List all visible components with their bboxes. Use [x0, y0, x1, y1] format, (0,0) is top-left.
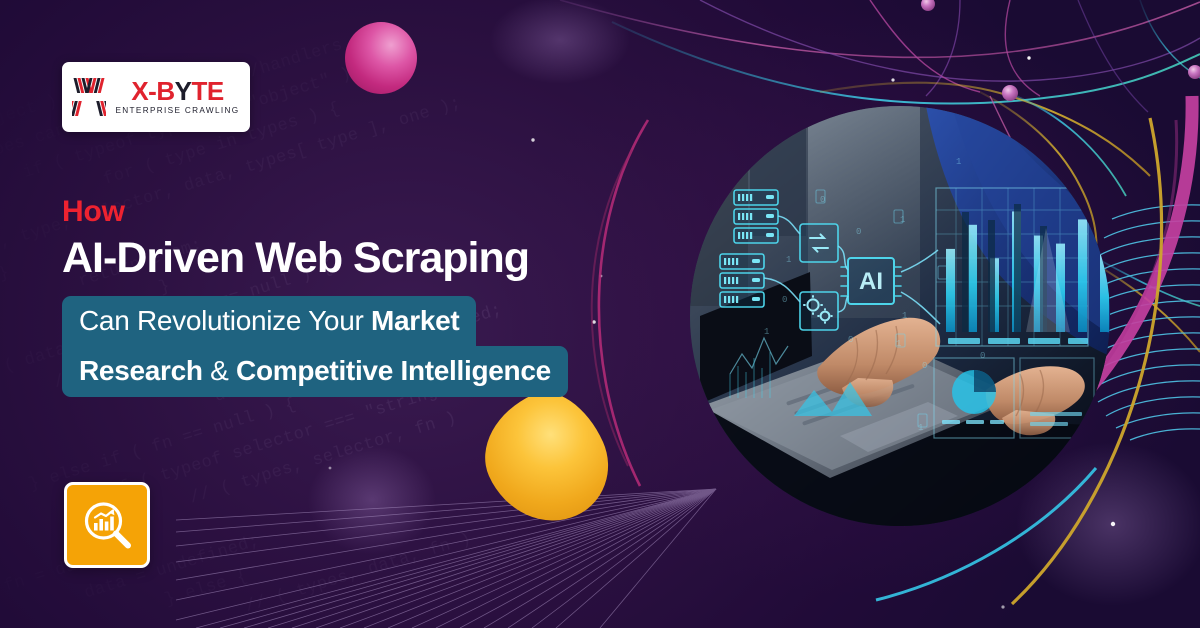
- svg-text:0: 0: [848, 335, 853, 345]
- hero-circle: AI: [646, 62, 1154, 570]
- subtitle-line-2-bold-a: Research: [79, 355, 203, 386]
- logo-word-part-2: Y: [175, 76, 192, 106]
- hero-illustration: AI: [690, 106, 1110, 526]
- subtitle-line-2-amp: &: [203, 355, 236, 386]
- svg-text:1: 1: [764, 327, 769, 337]
- subtitle-line-1-light: Can Revolutionize Your: [79, 305, 371, 336]
- logo-word-part-1: X-B: [131, 76, 174, 106]
- logo-text-block: X-BYTE ENTERPRISE CRAWLING: [115, 78, 239, 115]
- logo-tagline: ENTERPRISE CRAWLING: [115, 107, 239, 115]
- search-analytics-badge[interactable]: [64, 482, 150, 568]
- svg-text:0: 0: [922, 361, 927, 371]
- x-byte-mark-icon: [72, 76, 106, 118]
- ai-chip-label: AI: [859, 268, 883, 295]
- svg-text:1: 1: [956, 157, 961, 167]
- gold-blob-decoration: [466, 377, 626, 542]
- logo-word-part-3: TE: [191, 76, 223, 106]
- hero-photo: AI: [690, 106, 1110, 526]
- svg-text:0: 0: [980, 351, 985, 361]
- subtitle-line-2: Research & Competitive Intelligence: [62, 346, 568, 397]
- page-title: AI-Driven Web Scraping: [62, 234, 682, 282]
- subtitle-line-1-bold: Market: [371, 305, 459, 336]
- svg-text:0: 0: [856, 227, 861, 237]
- headline-kicker: How: [62, 196, 682, 228]
- logo-wordmark: X-BYTE: [131, 78, 223, 104]
- marketing-banner: if ( types-Object ) { // types can be a …: [0, 0, 1200, 628]
- brand-logo[interactable]: X-BYTE ENTERPRISE CRAWLING: [62, 62, 250, 132]
- subtitle-line-1: Can Revolutionize Your Market: [62, 296, 476, 347]
- svg-text:0: 0: [782, 295, 787, 305]
- svg-text:1: 1: [918, 423, 923, 433]
- subtitle-banner: Can Revolutionize Your Market Research &…: [62, 296, 682, 397]
- subtitle-line-2-bold-b: Competitive Intelligence: [236, 355, 551, 386]
- svg-text:1: 1: [902, 311, 907, 321]
- headline-block: How AI-Driven Web Scraping Can Revolutio…: [62, 196, 682, 397]
- pink-sphere-decoration: [345, 22, 417, 94]
- search-analytics-icon: [79, 497, 135, 553]
- svg-text:1: 1: [786, 255, 791, 265]
